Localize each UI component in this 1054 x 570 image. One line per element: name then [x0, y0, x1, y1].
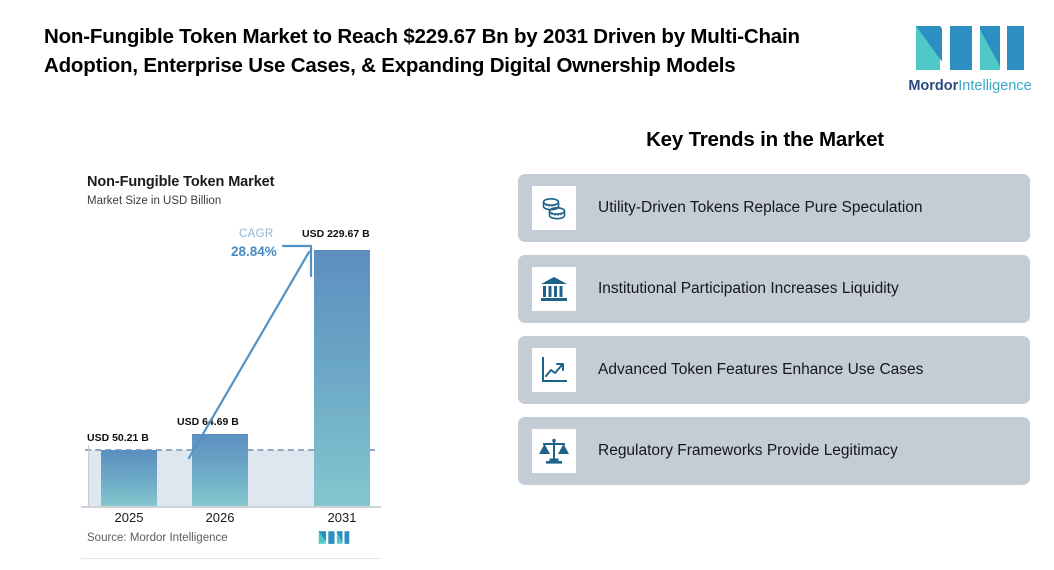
trend-label: Regulatory Frameworks Provide Legitimacy: [598, 441, 906, 462]
trend-label: Utility-Driven Tokens Replace Pure Specu…: [598, 198, 931, 219]
chart-plot-area: USD 50.21 B USD 64.69 B USD 229.67 B 202…: [59, 160, 399, 560]
bar-2025: [101, 450, 157, 506]
x-label-2025: 2025: [101, 510, 157, 525]
trend-card-institutional-participation[interactable]: Institutional Participation Increases Li…: [518, 255, 1030, 323]
page-title: Non-Fungible Token Market to Reach $229.…: [44, 22, 854, 80]
key-trends-section: Key Trends in the Market Utility-Driven …: [518, 128, 1030, 498]
x-label-2031: 2031: [314, 510, 370, 525]
trend-card-regulatory-frameworks[interactable]: Regulatory Frameworks Provide Legitimacy: [518, 417, 1030, 485]
page-header: Non-Fungible Token Market to Reach $229.…: [0, 0, 1054, 120]
scales-of-justice-icon: [532, 429, 576, 473]
wordmark-intelligence: Intelligence: [958, 78, 1031, 94]
x-axis-line: [81, 506, 381, 508]
trend-card-utility-driven-tokens[interactable]: Utility-Driven Tokens Replace Pure Specu…: [518, 174, 1030, 242]
chart-bottom-divider: [81, 558, 381, 559]
growth-chart-icon: [532, 348, 576, 392]
bank-institution-icon: [532, 267, 576, 311]
cagr-growth-arrow: [209, 230, 339, 460]
mordor-logo-wordmark: MordorIntelligence: [905, 79, 1035, 94]
chart-footer: Source: Mordor Intelligence: [59, 528, 399, 560]
mordor-logo-mark: [910, 22, 1030, 74]
y-axis-line: [88, 445, 89, 507]
bar-label-2025: USD 50.21 B: [87, 432, 149, 444]
stacked-coins-icon: [532, 186, 576, 230]
mordor-logo-mark-small: [317, 529, 351, 546]
x-label-2026: 2026: [192, 510, 248, 525]
wordmark-mordor: Mordor: [908, 78, 958, 94]
mordor-intelligence-logo: MordorIntelligence: [905, 22, 1035, 102]
key-trends-heading: Key Trends in the Market: [518, 128, 1030, 152]
market-size-chart: Non-Fungible Token Market Market Size in…: [59, 160, 399, 560]
chart-source: Source: Mordor Intelligence: [87, 532, 228, 544]
trend-card-advanced-token-features[interactable]: Advanced Token Features Enhance Use Case…: [518, 336, 1030, 404]
trend-label: Advanced Token Features Enhance Use Case…: [598, 360, 931, 381]
trend-label: Institutional Participation Increases Li…: [598, 279, 907, 300]
